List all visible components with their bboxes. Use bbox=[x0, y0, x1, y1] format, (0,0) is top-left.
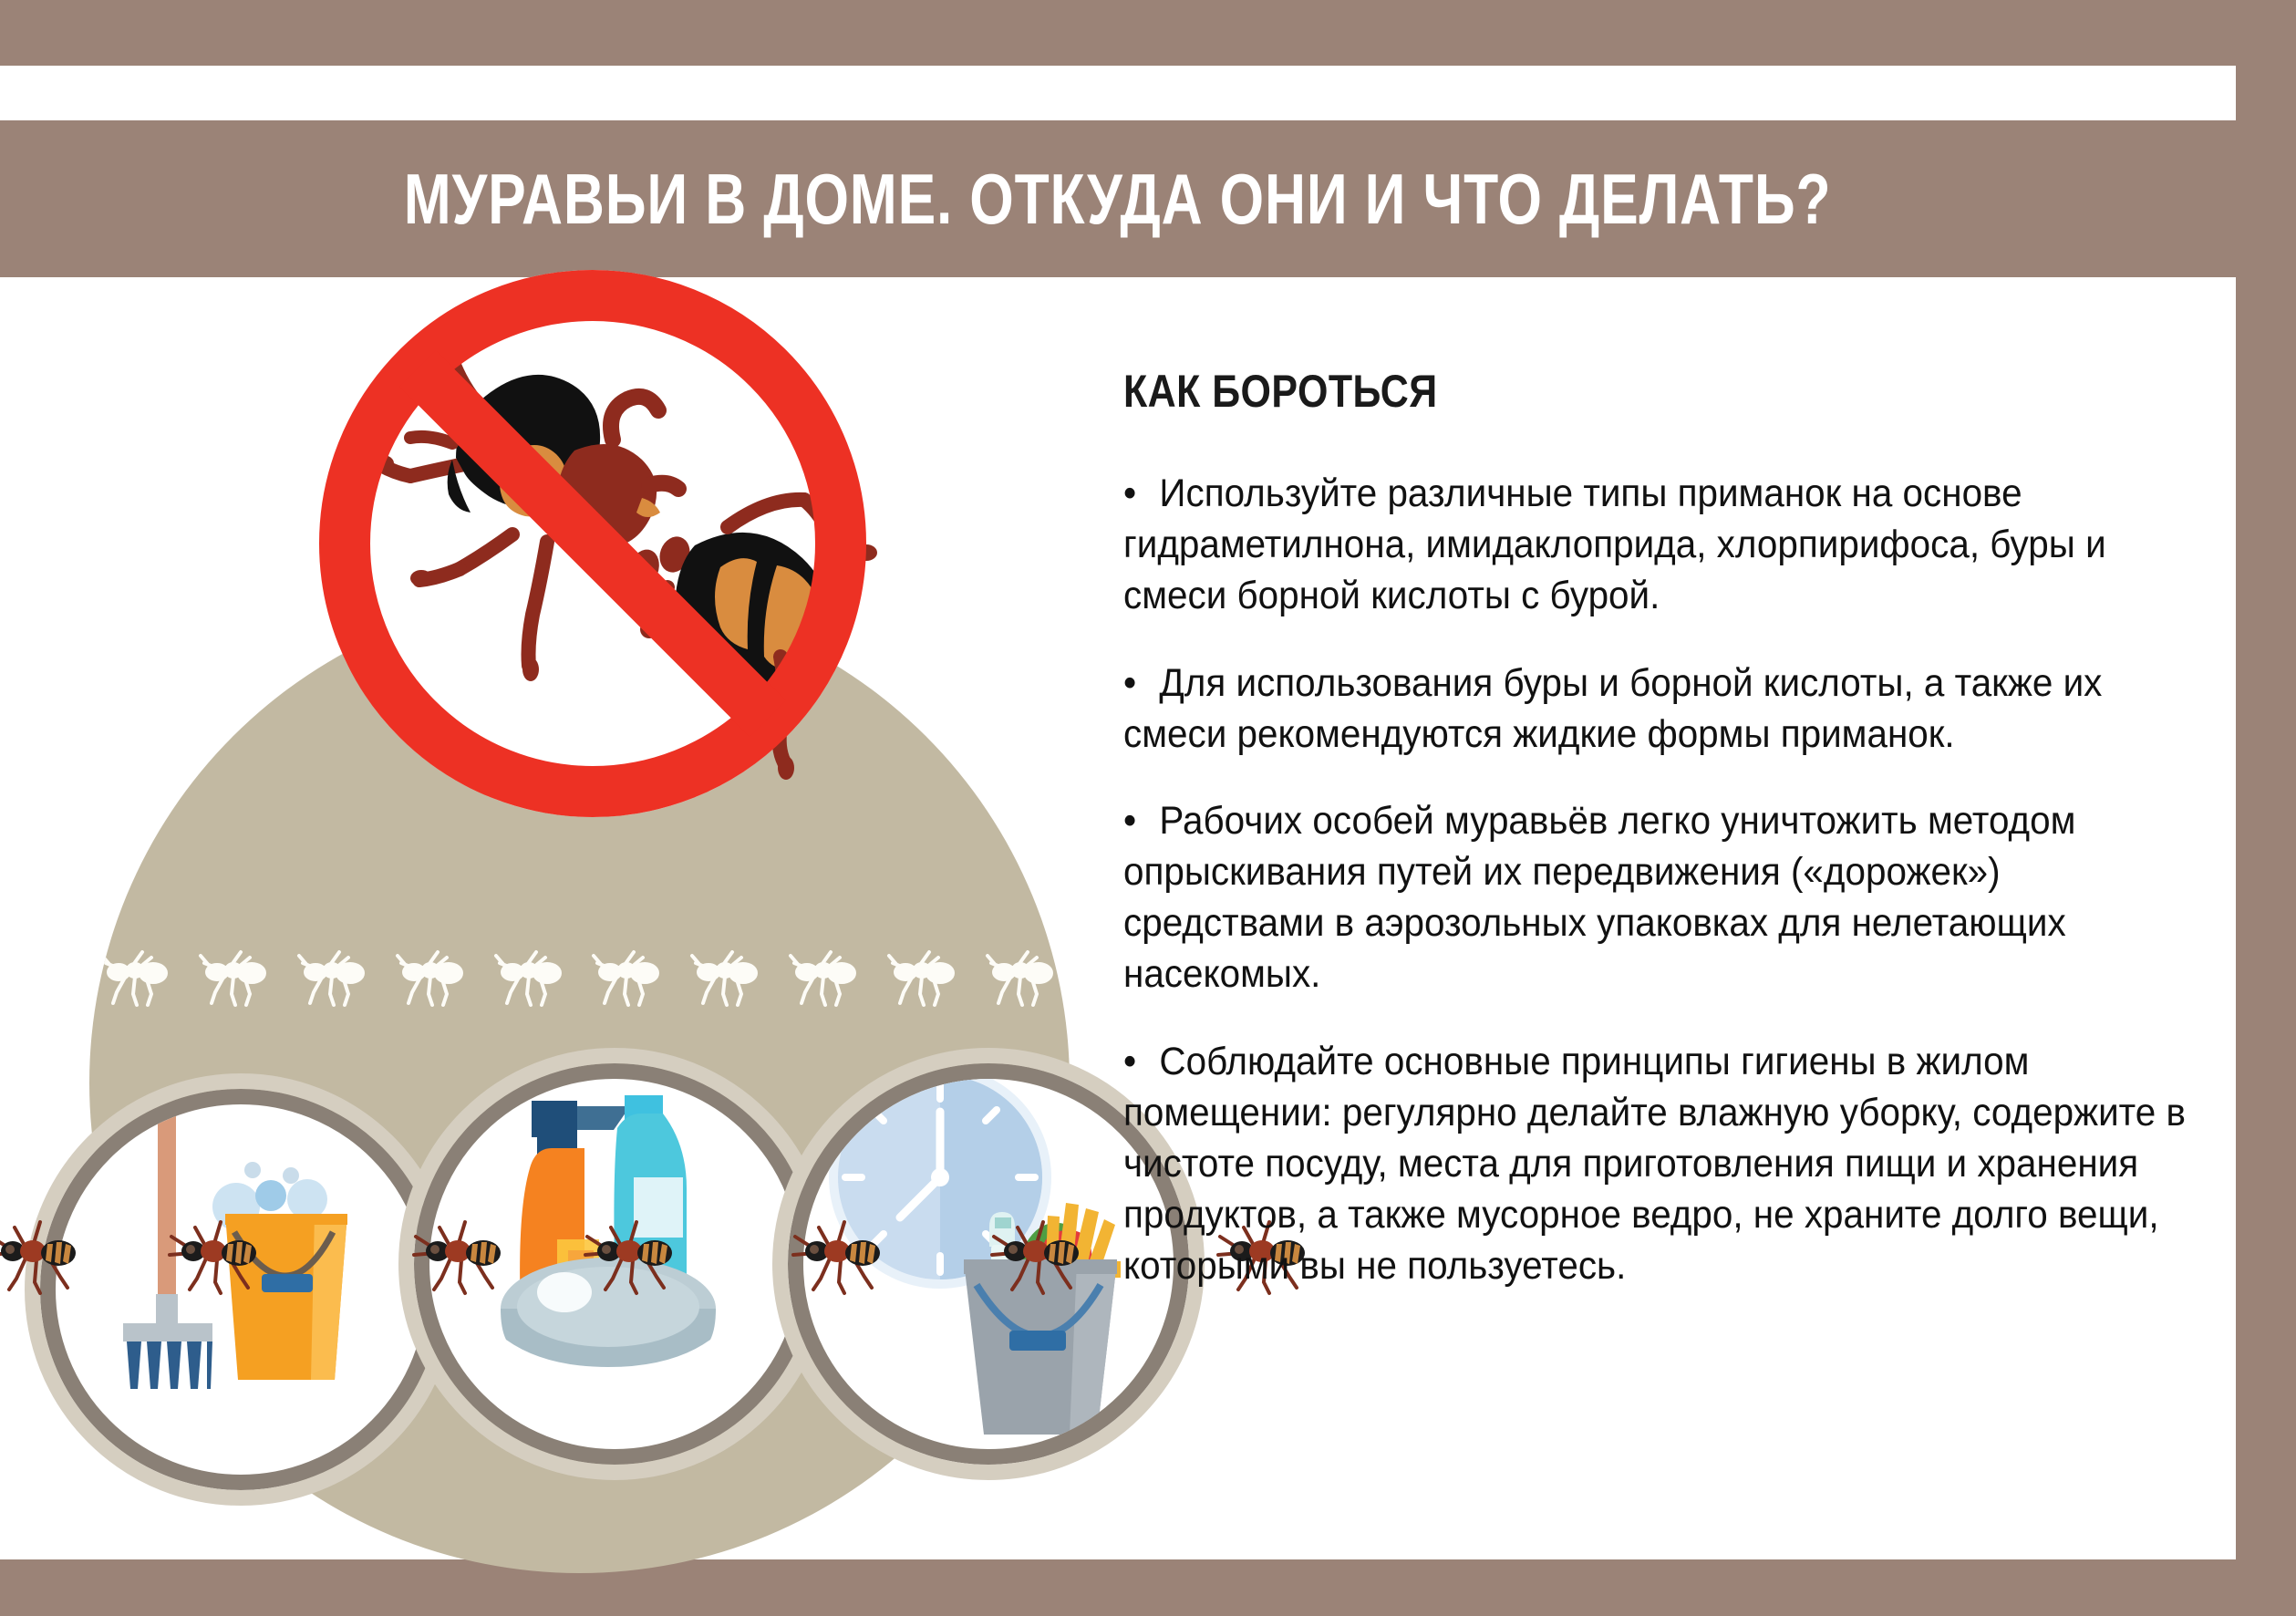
right-border-band bbox=[2236, 0, 2296, 1616]
clock-and-trash-bin-icon bbox=[803, 1079, 1174, 1449]
detergents-and-dishes-icon bbox=[429, 1079, 800, 1449]
illustration-panel bbox=[0, 277, 1112, 1559]
plate bbox=[501, 1258, 716, 1367]
bullet-text: Для использования буры и борной кислоты,… bbox=[1123, 661, 2102, 756]
icon-circle-detergents bbox=[414, 1063, 815, 1465]
bullet-text: Используйте различные типы приманок на о… bbox=[1123, 471, 2106, 617]
bullet-marker: • bbox=[1123, 796, 1149, 847]
broom-head bbox=[123, 1323, 212, 1341]
bullet-item: • Соблюдайте основные принципы гигиены в… bbox=[1123, 1037, 2195, 1291]
bullet-marker: • bbox=[1123, 469, 1149, 520]
top-border-band bbox=[0, 0, 2296, 66]
bucket-grip bbox=[262, 1274, 313, 1292]
bullet-item: • Для использования буры и борной кислот… bbox=[1123, 658, 2195, 761]
section-heading: КАК БОРОТЬСЯ bbox=[1123, 365, 1438, 418]
bullet-list: • Используйте различные типы приманок на… bbox=[1123, 469, 2208, 1328]
wall-clock bbox=[829, 1079, 1051, 1289]
icon-circles-row bbox=[31, 1058, 1107, 1487]
no-ants-prohibition-sign bbox=[274, 224, 912, 863]
bullet-item: • Рабочих особей муравьёв легко уничтожи… bbox=[1123, 796, 2195, 1000]
bullet-text: Рабочих особей муравьёв легко уничтожить… bbox=[1123, 799, 2075, 996]
bottom-border-band bbox=[0, 1559, 2296, 1616]
cleaning-broom-and-bucket-icon bbox=[56, 1104, 426, 1475]
bullet-marker: • bbox=[1123, 658, 1149, 710]
icon-circle-cleaning bbox=[40, 1089, 441, 1490]
bin-grip bbox=[1009, 1331, 1066, 1351]
fries bbox=[1046, 1203, 1115, 1269]
bullet-marker: • bbox=[1123, 1037, 1149, 1088]
broom-bristles bbox=[127, 1341, 212, 1389]
bullet-text: Соблюдайте основные принципы гигиены в ж… bbox=[1123, 1040, 2186, 1288]
bullet-item: • Используйте различные типы приманок на… bbox=[1123, 469, 2195, 622]
content-area: КАК БОРОТЬСЯ • Используйте различные тип… bbox=[0, 277, 2236, 1559]
text-panel: КАК БОРОТЬСЯ • Используйте различные тип… bbox=[1123, 277, 2208, 1559]
broom-handle bbox=[158, 1104, 176, 1314]
